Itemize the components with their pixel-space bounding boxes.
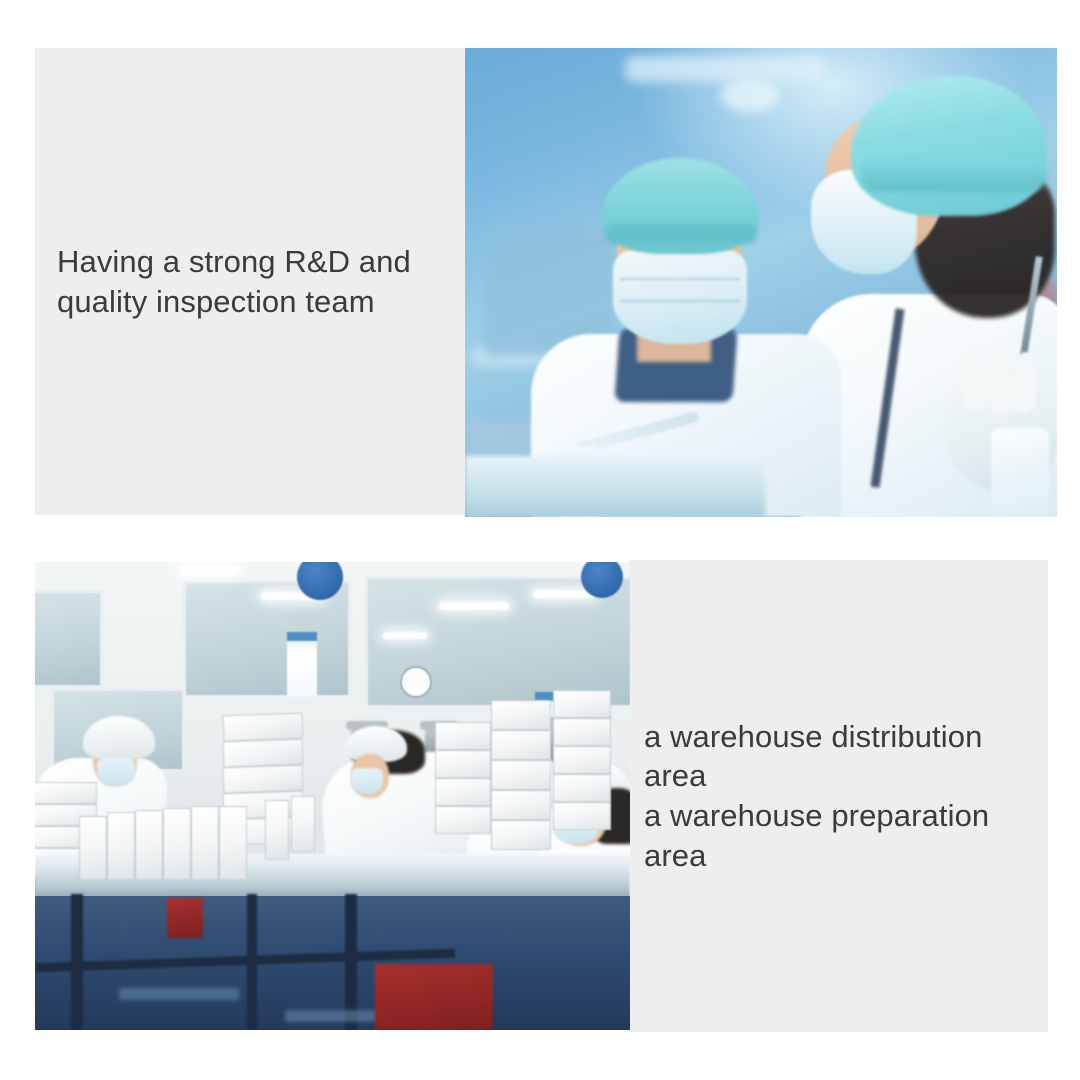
product-carton (107, 812, 135, 880)
carton (491, 820, 551, 850)
wall-poster (287, 632, 317, 697)
carton (491, 790, 551, 820)
carton (223, 765, 304, 794)
finger-3 (1011, 351, 1039, 415)
carton (435, 750, 491, 778)
carton (435, 722, 491, 750)
warehouse-caption-panel: a warehouse distribution area a warehous… (630, 560, 1048, 1032)
carton (435, 806, 491, 834)
red-bin (375, 964, 493, 1030)
carton (491, 700, 551, 730)
lab-quality-inspection-photo (465, 48, 1057, 517)
wall-clock (400, 666, 432, 698)
carton (223, 739, 304, 768)
carton (553, 690, 611, 718)
lab-bench (465, 456, 765, 517)
product-cartons-on-table (79, 794, 369, 870)
carton (553, 802, 611, 830)
rnd-caption-panel: Having a strong R&D and quality inspecti… (35, 48, 465, 515)
carton (553, 774, 611, 802)
carton (553, 746, 611, 774)
ceiling-light-3 (439, 602, 509, 610)
red-bin-2 (167, 898, 203, 938)
carton (491, 760, 551, 790)
ceiling-light-1 (181, 566, 239, 575)
product-carton (79, 816, 107, 880)
floor-stripe-1 (119, 988, 239, 1000)
finger-2 (985, 343, 1015, 414)
product-carton (219, 806, 247, 880)
carton (553, 718, 611, 746)
carton (491, 730, 551, 760)
warehouse-caption-text: a warehouse distribution area a warehous… (630, 717, 1048, 876)
sample-vial (991, 428, 1049, 517)
cleanroom-window-left (35, 590, 103, 688)
carton (435, 778, 491, 806)
box-stack-right (435, 682, 630, 862)
product-carton (191, 806, 219, 880)
warehouse-packing-photo (35, 562, 630, 1030)
carton (223, 713, 304, 742)
product-carton (291, 796, 315, 852)
rnd-caption-text: Having a strong R&D and quality inspecti… (35, 242, 411, 321)
product-carton (135, 810, 163, 880)
product-carton (265, 800, 289, 860)
product-carton (163, 808, 191, 880)
ceiling-light-5 (383, 632, 427, 639)
tweezers (1018, 256, 1042, 368)
